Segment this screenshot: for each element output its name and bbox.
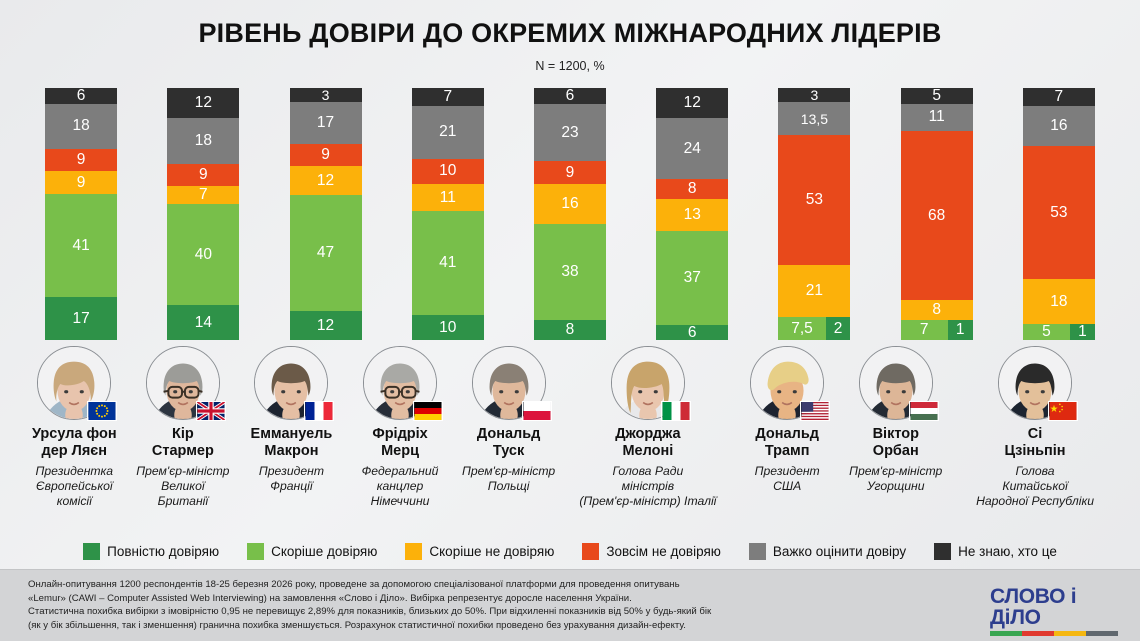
bar-segment[interactable]: 10	[412, 315, 484, 340]
chart-column: 618994117	[20, 88, 142, 340]
person-role: Голова Китайської Народної Республіки	[950, 464, 1120, 508]
legend-label: Зовсім не довіряю	[606, 544, 721, 559]
bar-segment-label: 24	[684, 141, 701, 157]
bar-segment[interactable]: 11	[412, 184, 484, 212]
logo-color-bar	[1022, 631, 1054, 636]
person-role: Президент США	[755, 464, 820, 493]
bar-segment[interactable]: 9	[534, 161, 606, 184]
bar-segment-label: 8	[566, 322, 575, 338]
bar-segment-label: 13,5	[801, 112, 828, 126]
person-name: Сі Цзіньпін	[1005, 426, 1066, 460]
bar-segment-label: 10	[439, 320, 456, 336]
bar-segment[interactable]: 11	[901, 104, 973, 131]
person-role: Президент Франції	[259, 464, 324, 493]
legend-item[interactable]: Скоріше не довіряю	[405, 543, 554, 560]
avatar-wrapper	[146, 346, 220, 420]
bar-segment-label: 2	[826, 317, 851, 340]
france-flag-icon	[304, 401, 334, 421]
bar-segment[interactable]: 53	[1023, 146, 1095, 279]
stacked-bar[interactable]: 313,553217,52	[778, 88, 850, 340]
bar-segment-label: 13	[684, 207, 701, 223]
bar-segment[interactable]: 17	[290, 102, 362, 144]
person-name: Кір Стармер	[152, 426, 214, 460]
bar-segment-label: 18	[72, 118, 89, 134]
bar-segment-label: 41	[72, 238, 89, 254]
bar-segment-label: 37	[684, 270, 701, 286]
legend-label: Скоріше довіряю	[271, 544, 377, 559]
person-role: Прем'єр-міністр Угорщини	[849, 464, 942, 493]
bar-segment-label: 1	[948, 320, 973, 340]
bar-segment-label: 8	[688, 181, 697, 197]
chart-subtitle: N = 1200, %	[0, 59, 1140, 73]
bar-segment-label: 17	[72, 311, 89, 327]
bar-segment[interactable]: 37	[656, 231, 728, 324]
bar-segment[interactable]: 7	[1023, 88, 1095, 106]
legend-label: Важко оцінити довіру	[773, 544, 906, 559]
chart-column: 716531851	[998, 88, 1120, 340]
bar-segment[interactable]: 8	[901, 300, 973, 320]
bar-segment[interactable]: 13	[656, 199, 728, 232]
bar-segment-label: 7	[901, 320, 948, 340]
bar-segment[interactable]: 7	[167, 186, 239, 204]
chart-column: 1224813376	[631, 88, 753, 340]
bar-segment[interactable]: 12	[167, 88, 239, 118]
bar-segment-label: 47	[317, 245, 334, 261]
bar-segment-label: 18	[1050, 294, 1067, 310]
avatar-wrapper	[472, 346, 546, 420]
person-card: Еммануель МакронПрезидент Франції	[237, 346, 346, 531]
usa-flag-icon	[800, 401, 830, 421]
bar-segment[interactable]: 53	[778, 135, 850, 265]
legend-label: Повністю довіряю	[107, 544, 219, 559]
bar-segment[interactable]: 3	[778, 88, 850, 102]
bar-segment[interactable]: 10	[412, 159, 484, 184]
person-card: Сі ЦзіньпінГолова Китайської Народної Ре…	[950, 346, 1120, 531]
bar-segment[interactable]: 68	[901, 131, 973, 300]
bar-segment-label: 16	[561, 196, 578, 212]
bar-segment-label: 6	[688, 325, 697, 341]
bar-segment-label: 3	[811, 88, 819, 102]
bar-segment-label: 16	[1050, 118, 1067, 134]
bar-segment[interactable]: 51	[1023, 324, 1095, 340]
logo-color-bars	[990, 631, 1118, 636]
legend-swatch	[83, 543, 100, 560]
bar-segment-label: 53	[1050, 205, 1067, 221]
bar-segment[interactable]: 13,5	[778, 102, 850, 135]
bar-segment[interactable]: 17	[45, 297, 117, 340]
legend-item[interactable]: Повністю довіряю	[83, 543, 219, 560]
avatar-wrapper	[254, 346, 328, 420]
person-card: Дональд ТрампПрезидент США	[733, 346, 842, 531]
bar-segment-label: 40	[195, 247, 212, 263]
bar-segment[interactable]: 18	[45, 104, 117, 149]
bar-segment[interactable]: 9	[45, 171, 117, 194]
bar-segment-label: 6	[77, 88, 86, 104]
person-card: Кір СтармерПрем'єр-міністр Великої Брита…	[129, 346, 238, 531]
legend-swatch	[247, 543, 264, 560]
footer: Онлайн-опитування 1200 респондентів 18-2…	[0, 569, 1140, 641]
bar-segment-label: 9	[321, 147, 330, 163]
bar-segment[interactable]: 41	[412, 211, 484, 314]
person-name: Фрідріх Мерц	[372, 426, 427, 460]
person-name: Еммануель Макрон	[251, 426, 333, 460]
bar-segment-label: 53	[806, 192, 823, 208]
bar-segment[interactable]: 24	[656, 118, 728, 178]
person-labels-row: Урсула фон дер ЛяєнПрезидентка Європейсь…	[20, 346, 1120, 531]
bar-segment-label: 12	[684, 95, 701, 111]
bar-segment[interactable]: 16	[1023, 106, 1095, 146]
bar-segment-label: 1	[1070, 324, 1095, 340]
bar-segment[interactable]: 18	[1023, 279, 1095, 324]
bar-segment[interactable]: 3	[290, 88, 362, 102]
bar-segment-label: 9	[77, 152, 86, 168]
bar-segment-label: 7	[199, 187, 208, 203]
bar-segment-label: 21	[439, 124, 456, 140]
bar-segment-label: 21	[806, 283, 823, 299]
person-card: Урсула фон дер ЛяєнПрезидентка Європейсь…	[20, 346, 129, 531]
bar-segment-label: 5	[932, 88, 941, 104]
page-title: РІВЕНЬ ДОВІРИ ДО ОКРЕМИХ МІЖНАРОДНИХ ЛІД…	[0, 20, 1140, 47]
italy-flag-icon	[661, 401, 691, 421]
bar-segment-label: 11	[440, 190, 456, 206]
bar-segment[interactable]: 12	[290, 311, 362, 340]
logo-color-bar	[1054, 631, 1086, 636]
legend-item[interactable]: Не знаю, хто це	[934, 543, 1057, 560]
eu-flag-icon	[87, 401, 117, 421]
uk-flag-icon	[196, 401, 226, 421]
bar-segment-label: 14	[195, 315, 212, 331]
chart-column: 51168871	[876, 88, 998, 340]
bar-segment[interactable]: 9	[290, 144, 362, 166]
person-role: Голова Ради міністрів (Прем'єр-міністр) …	[563, 464, 733, 508]
bar-segment[interactable]: 7	[412, 88, 484, 106]
legend-item[interactable]: Скоріше довіряю	[247, 543, 377, 560]
bar-segment[interactable]: 7,52	[778, 317, 850, 340]
person-role: Прем'єр-міністр Великої Британії	[136, 464, 229, 508]
stacked-bar[interactable]: 72110114110	[412, 88, 484, 340]
bar-segment[interactable]: 8	[656, 179, 728, 199]
stacked-bar-chart: 6189941171218974014317912471272110114110…	[20, 88, 1120, 340]
bar-segment[interactable]: 38	[534, 224, 606, 320]
bar-segment[interactable]: 21	[412, 106, 484, 159]
stacked-bar[interactable]: 618994117	[45, 88, 117, 340]
bar-segment[interactable]: 16	[534, 184, 606, 224]
avatar-wrapper	[363, 346, 437, 420]
chart-legend: Повністю довіряюСкоріше довіряюСкоріше н…	[0, 536, 1140, 566]
chart-column: 623916388	[509, 88, 631, 340]
bar-segment[interactable]: 8	[534, 320, 606, 340]
bar-segment-label: 3	[322, 88, 330, 102]
logo-color-bar	[1086, 631, 1118, 636]
person-card: Дональд ТускПрем'єр-міністр Польщі	[454, 346, 563, 531]
chart-column: 72110114110	[387, 88, 509, 340]
bar-segment[interactable]: 47	[290, 195, 362, 310]
methodology-note: Онлайн-опитування 1200 респондентів 18-2…	[28, 578, 711, 632]
bar-segment-label: 7	[1055, 89, 1064, 105]
legend-swatch	[934, 543, 951, 560]
bar-segment[interactable]: 12	[290, 166, 362, 195]
person-name: Дональд Трамп	[755, 426, 819, 460]
bar-segment[interactable]: 14	[167, 305, 239, 340]
stacked-bar[interactable]: 1218974014	[167, 88, 239, 340]
bar-segment-label: 9	[566, 165, 575, 181]
bar-segment[interactable]: 6	[534, 88, 606, 104]
legend-swatch	[405, 543, 422, 560]
chart-column: 313,553217,52	[753, 88, 875, 340]
bar-segment[interactable]: 6	[45, 88, 117, 104]
person-role: Президентка Європейської комісії	[35, 464, 113, 508]
avatar-wrapper	[37, 346, 111, 420]
stacked-bar[interactable]: 623916388	[534, 88, 606, 340]
legend-label: Скоріше не довіряю	[429, 544, 554, 559]
chart-column: 3179124712	[264, 88, 386, 340]
bar-segment-label: 10	[439, 163, 456, 179]
stacked-bar[interactable]: 51168871	[901, 88, 973, 340]
bar-segment[interactable]: 12	[656, 88, 728, 118]
person-name: Віктор Орбан	[873, 426, 919, 460]
bar-segment-label: 7,5	[778, 317, 825, 340]
person-card: Джорджа МелоніГолова Ради міністрів (Пре…	[563, 346, 733, 531]
poland-flag-icon	[522, 401, 552, 421]
person-name: Урсула фон дер Ляєн	[32, 426, 117, 460]
germany-flag-icon	[413, 401, 443, 421]
bar-segment-label: 5	[1023, 324, 1070, 340]
bar-segment-label: 18	[195, 133, 212, 149]
slovo-i-dilo-logo[interactable]: СЛОВО і ДіЛО	[990, 586, 1118, 636]
person-card: Фрідріх МерцФедеральний канцлер Німеччин…	[346, 346, 455, 531]
logo-wordmark: СЛОВО і ДіЛО	[990, 586, 1118, 628]
bar-segment[interactable]: 5	[901, 88, 973, 104]
avatar-wrapper	[750, 346, 824, 420]
hungary-flag-icon	[909, 401, 939, 421]
bar-segment-label: 68	[928, 208, 945, 224]
legend-label: Не знаю, хто це	[958, 544, 1057, 559]
bar-segment-label: 12	[195, 95, 212, 111]
bar-segment-label: 12	[317, 173, 334, 189]
bar-segment-label: 8	[932, 302, 941, 318]
person-card: Віктор ОрбанПрем'єр-міністр Угорщини	[841, 346, 950, 531]
legend-item[interactable]: Важко оцінити довіру	[749, 543, 906, 560]
china-flag-icon	[1048, 401, 1078, 421]
legend-swatch	[582, 543, 599, 560]
bar-segment-label: 41	[439, 255, 456, 271]
chart-column: 1218974014	[142, 88, 264, 340]
avatar-wrapper	[611, 346, 685, 420]
bar-segment[interactable]: 71	[901, 320, 973, 340]
person-name: Дональд Туск	[477, 426, 541, 460]
bar-segment-label: 12	[317, 318, 334, 334]
person-role: Федеральний канцлер Німеччини	[362, 464, 439, 508]
legend-swatch	[749, 543, 766, 560]
bar-segment-label: 23	[561, 125, 578, 141]
bar-segment[interactable]: 18	[167, 118, 239, 163]
stacked-bar[interactable]: 716531851	[1023, 88, 1095, 340]
person-role: Прем'єр-міністр Польщі	[462, 464, 555, 493]
bar-segment[interactable]: 9	[167, 164, 239, 187]
bar-segment-label: 9	[77, 175, 86, 191]
logo-color-bar	[990, 631, 1022, 636]
avatar-wrapper	[998, 346, 1072, 420]
bar-segment[interactable]: 40	[167, 204, 239, 305]
chart-header: РІВЕНЬ ДОВІРИ ДО ОКРЕМИХ МІЖНАРОДНИХ ЛІД…	[0, 0, 1140, 73]
bar-segment[interactable]: 41	[45, 194, 117, 297]
legend-item[interactable]: Зовсім не довіряю	[582, 543, 721, 560]
bar-segment[interactable]: 23	[534, 104, 606, 162]
bar-segment[interactable]: 9	[45, 149, 117, 172]
person-name: Джорджа Мелоні	[615, 426, 680, 460]
stacked-bar[interactable]: 3179124712	[290, 88, 362, 340]
avatar-wrapper	[859, 346, 933, 420]
bar-segment-label: 7	[443, 89, 452, 105]
bar-segment-label: 9	[199, 167, 208, 183]
bar-segment[interactable]: 21	[778, 265, 850, 317]
bar-segment[interactable]: 6	[656, 325, 728, 341]
bar-segment-label: 38	[561, 264, 578, 280]
bar-segment-label: 17	[317, 115, 334, 131]
bar-segment-label: 6	[566, 88, 575, 104]
stacked-bar[interactable]: 1224813376	[656, 88, 728, 340]
bar-segment-label: 11	[929, 109, 945, 125]
